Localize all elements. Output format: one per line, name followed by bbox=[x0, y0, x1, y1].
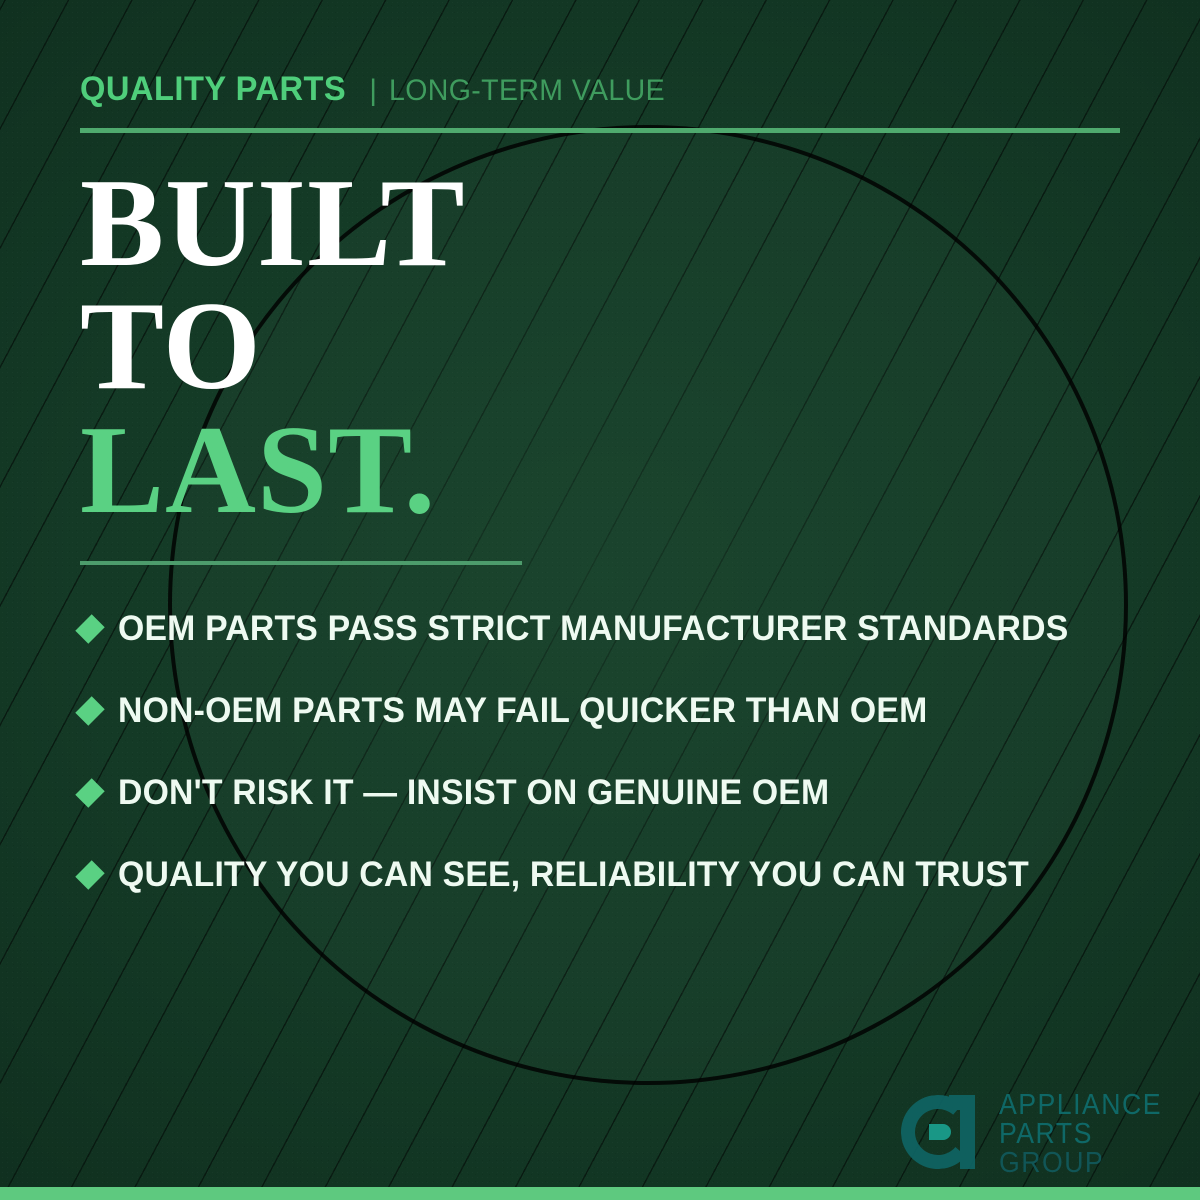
list-item-label: NON-OEM PARTS MAY FAIL QUICKER THAN OEM bbox=[118, 691, 927, 731]
brand-word-3: GROUP bbox=[999, 1149, 1162, 1178]
headline-divider-rule bbox=[80, 561, 522, 565]
eyebrow: QUALITY PARTS | LONG-TERM VALUE bbox=[80, 70, 680, 109]
diamond-bullet-icon bbox=[75, 778, 104, 807]
list-item-label: DON'T RISK IT — INSIST ON GENUINE OEM bbox=[118, 773, 829, 813]
brand-logo: APPLIANCE PARTS GROUP bbox=[901, 1091, 1176, 1178]
headline-line-2: TO bbox=[80, 285, 466, 408]
headline-line-1: BUILT bbox=[80, 162, 466, 285]
header-divider-rule bbox=[80, 128, 1120, 133]
diamond-bullet-icon bbox=[75, 860, 104, 889]
list-item: NON-OEM PARTS MAY FAIL QUICKER THAN OEM bbox=[80, 670, 1140, 752]
poster-content: QUALITY PARTS | LONG-TERM VALUE BUILT TO… bbox=[0, 0, 1200, 1200]
bottom-accent-bar bbox=[0, 1187, 1200, 1200]
brand-word-2: PARTS bbox=[999, 1120, 1162, 1149]
brand-word-1: APPLIANCE bbox=[999, 1091, 1162, 1120]
list-item-label: QUALITY YOU CAN SEE, RELIABILITY YOU CAN… bbox=[118, 855, 1029, 895]
brand-wordmark: APPLIANCE PARTS GROUP bbox=[999, 1091, 1176, 1178]
diamond-bullet-icon bbox=[75, 696, 104, 725]
diamond-bullet-icon bbox=[75, 614, 104, 643]
list-item: QUALITY YOU CAN SEE, RELIABILITY YOU CAN… bbox=[80, 834, 1140, 916]
benefits-list: OEM PARTS PASS STRICT MANUFACTURER STAND… bbox=[80, 588, 1140, 916]
g-icon-crossbar bbox=[949, 1095, 975, 1110]
list-item: OEM PARTS PASS STRICT MANUFACTURER STAND… bbox=[80, 588, 1140, 670]
g-icon-dot bbox=[929, 1124, 951, 1140]
eyebrow-separator: | bbox=[369, 74, 377, 108]
eyebrow-sub-label: LONG-TERM VALUE bbox=[389, 74, 665, 108]
poster-canvas: QUALITY PARTS | LONG-TERM VALUE BUILT TO… bbox=[0, 0, 1200, 1200]
list-item-label: OEM PARTS PASS STRICT MANUFACTURER STAND… bbox=[118, 609, 1068, 649]
list-item: DON'T RISK IT — INSIST ON GENUINE OEM bbox=[80, 752, 1140, 834]
page-title: BUILT TO LAST. bbox=[80, 162, 466, 532]
eyebrow-main-label: QUALITY PARTS bbox=[80, 70, 346, 109]
headline-line-3: LAST. bbox=[80, 409, 466, 532]
appliance-parts-group-g-icon bbox=[901, 1093, 985, 1177]
